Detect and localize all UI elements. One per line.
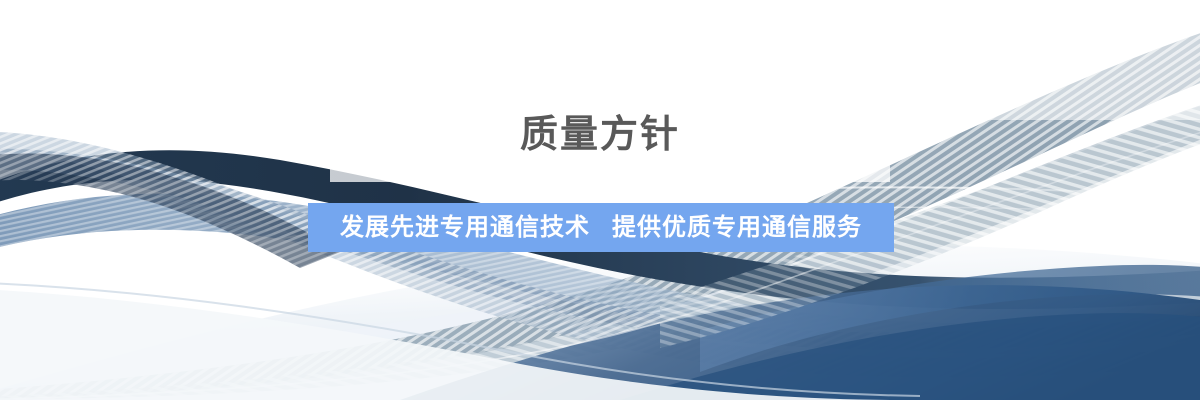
slogan-inner: 发展先进专用通信技术 提供优质专用通信服务	[340, 214, 862, 242]
page-title: 质量方针	[0, 112, 1200, 158]
slogan-bar: 发展先进专用通信技术 提供优质专用通信服务	[308, 203, 894, 252]
slogan-phrase-two: 提供优质专用通信服务	[612, 214, 862, 242]
quality-policy-banner: 质量方针 发展先进专用通信技术 提供优质专用通信服务	[0, 0, 1200, 400]
abstract-wave-background	[0, 0, 1200, 400]
slogan-phrase-one: 发展先进专用通信技术	[340, 214, 590, 242]
